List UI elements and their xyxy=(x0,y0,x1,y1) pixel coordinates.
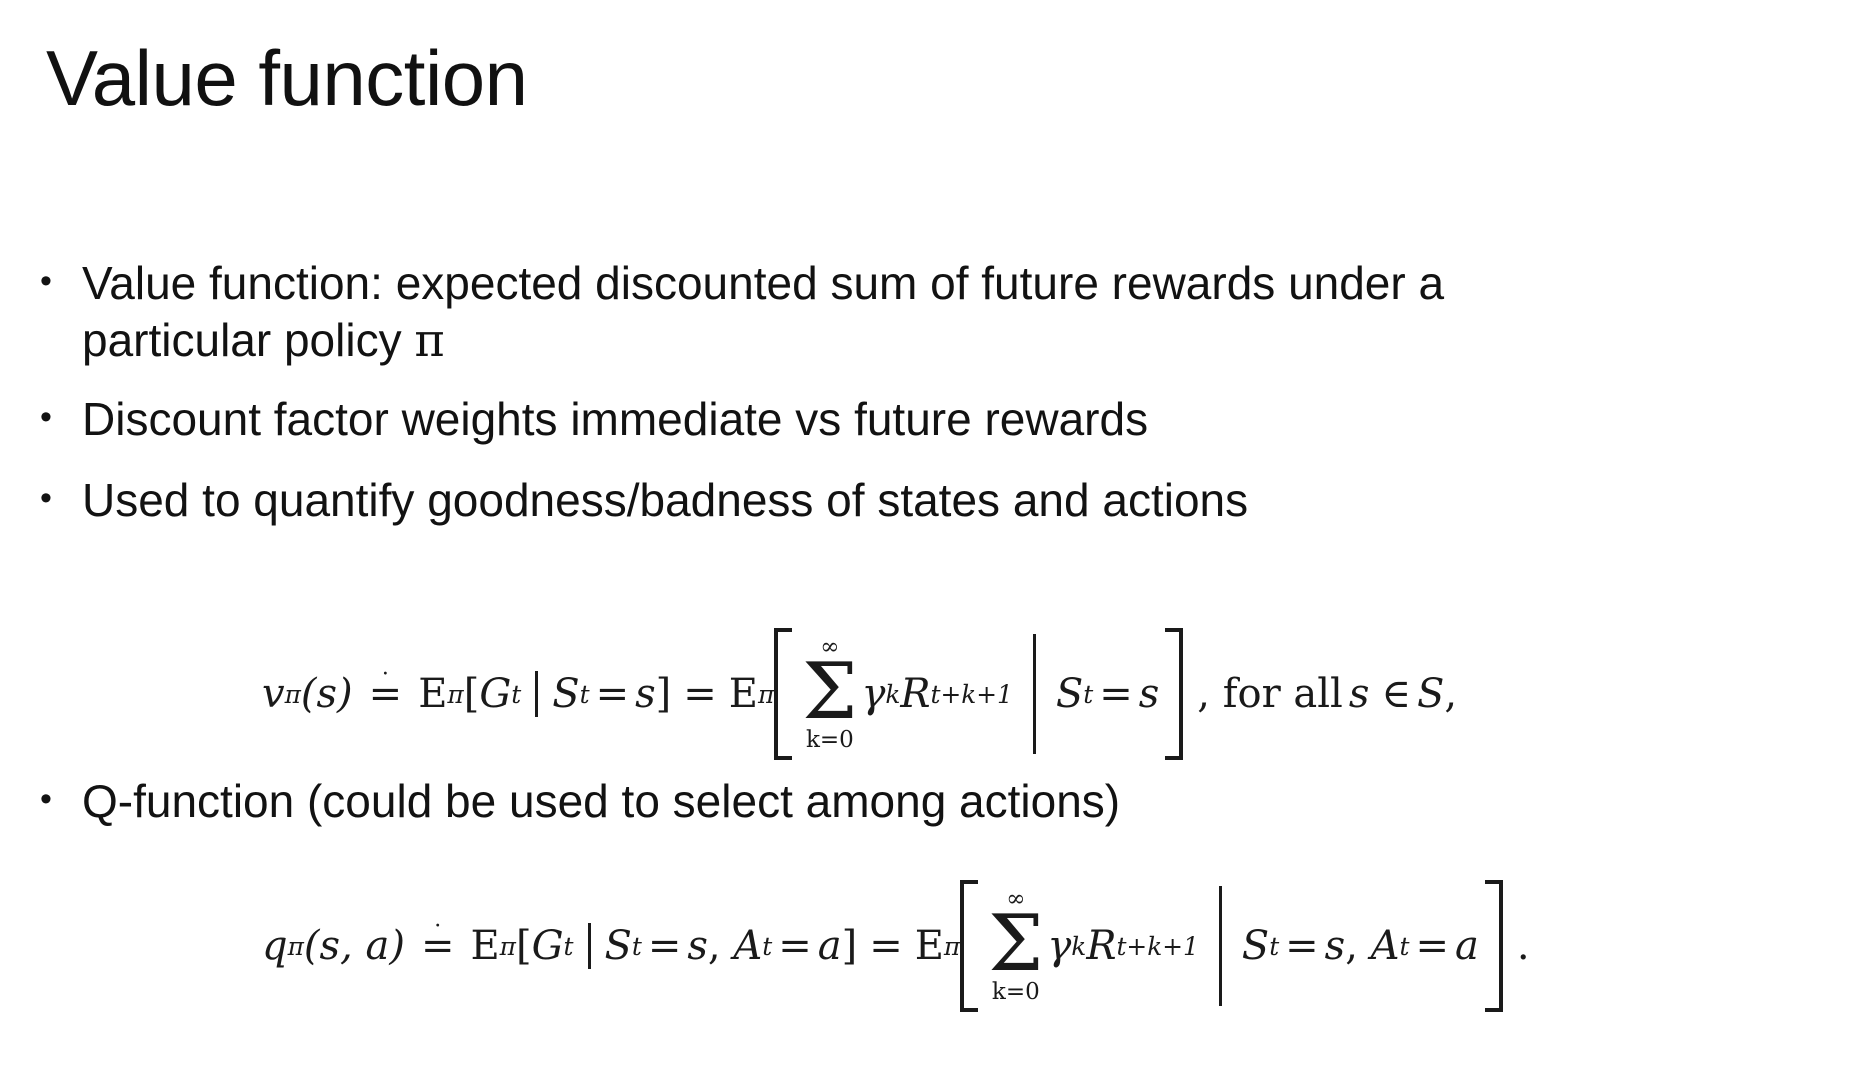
bullet-text-discount-factor: Discount factor weights immediate vs fut… xyxy=(82,391,1822,448)
eq2-summation: ∞ Σ k=0 xyxy=(988,888,1043,1004)
eq2-conditional-bar-large xyxy=(1219,886,1222,1006)
pi-symbol: π xyxy=(414,313,444,367)
eq2-comma-1: , xyxy=(708,923,733,969)
bullet-marker: • xyxy=(40,773,82,826)
eq1-element-of: ∈ xyxy=(1375,671,1417,717)
eq1-gamma: γ xyxy=(861,671,885,717)
eq1-bracket-content: ∞ Σ k=0 γkRt+k+1 St=s xyxy=(798,628,1159,760)
eq2-comma-2: , xyxy=(1345,923,1370,969)
eq2-conditional-bar xyxy=(588,923,591,969)
eq2-sum-lower-limit: k=0 xyxy=(992,981,1040,1004)
eq1-defined-as: ·= xyxy=(353,671,419,717)
eq2-state-S-2: S xyxy=(1242,923,1269,969)
eq2-expectation-2-sub-pi: π xyxy=(944,932,960,961)
eq2-big-open-bracket xyxy=(960,880,978,1012)
bullet-marker: • xyxy=(40,255,82,308)
eq2-state-sub-t: t xyxy=(632,932,642,961)
eq2-expectation-2: E xyxy=(915,923,944,969)
equation-action-value-function: qπ(s, a) ·= Eπ[Gt St=s, At=a] = Eπ ∞ Σ k… xyxy=(262,880,1530,1012)
eq2-action-A-2: A xyxy=(1371,923,1400,969)
eq2-reward-sub: t+k+1 xyxy=(1116,932,1198,961)
bullet-text-quantify-goodness: Used to quantify goodness/badness of sta… xyxy=(82,472,1822,529)
eq2-action-sub-t: t xyxy=(762,932,772,961)
page-title: Value function xyxy=(46,38,528,120)
eq1-tail-text: , for all xyxy=(1183,671,1343,717)
eq2-q-args: (s, a) xyxy=(304,923,405,969)
eq1-tail-var-s: s xyxy=(1343,671,1376,717)
eq1-reward-sub: t+k+1 xyxy=(931,680,1013,709)
eq1-big-open-bracket xyxy=(774,628,792,760)
eq2-action-value-a-2: a xyxy=(1455,923,1479,969)
eq2-equals-1: = xyxy=(642,923,688,969)
eq1-state-S-2: S xyxy=(1056,671,1083,717)
eq1-state-2-sub-t: t xyxy=(1083,680,1093,709)
eq2-big-bracket-group: ∞ Σ k=0 γkRt+k+1 St=s, At=a xyxy=(960,880,1503,1012)
eq1-expectation-2: E xyxy=(729,671,758,717)
eq1-state-S: S xyxy=(552,671,579,717)
sigma-icon: Σ xyxy=(802,657,857,729)
eq2-state-2-sub-t: t xyxy=(1269,932,1279,961)
doteq-dot: · xyxy=(434,916,441,938)
eq1-expectation: E xyxy=(418,671,447,717)
bullet-marker: • xyxy=(40,391,82,444)
doteq-dot: · xyxy=(382,664,389,686)
eq1-return-G: G xyxy=(479,671,511,717)
slide: Value function • Value function: expecte… xyxy=(0,0,1860,1080)
eq2-close-bracket: ] xyxy=(842,923,858,969)
eq2-return-sub-t: t xyxy=(564,932,574,961)
eq2-big-close-bracket xyxy=(1485,880,1503,1012)
eq1-open-bracket: [ xyxy=(464,671,480,717)
eq2-action-A: A xyxy=(733,923,762,969)
eq1-v-sub-pi: π xyxy=(285,680,301,709)
eq1-tail-comma: , xyxy=(1444,671,1457,717)
list-item: • Used to quantify goodness/badness of s… xyxy=(40,472,1830,529)
list-item: • Value function: expected discounted su… xyxy=(40,255,1830,369)
eq1-state-value-s: s xyxy=(635,671,656,717)
eq2-gamma: γ xyxy=(1047,923,1071,969)
eq2-q-sub-pi: π xyxy=(288,932,304,961)
eq2-defined-as: ·= xyxy=(405,923,471,969)
eq2-state-value-s-2: s xyxy=(1325,923,1346,969)
bullet-marker: • xyxy=(40,472,82,525)
eq2-state-value-s: s xyxy=(687,923,708,969)
sigma-icon: Σ xyxy=(988,909,1043,981)
eq1-state-sub-t: t xyxy=(580,680,590,709)
eq2-expectation: E xyxy=(470,923,499,969)
list-item: • Discount factor weights immediate vs f… xyxy=(40,391,1830,448)
eq1-equals-1: = xyxy=(590,671,636,717)
eq1-sum-lower-limit: k=0 xyxy=(806,729,854,752)
eq2-state-S: S xyxy=(605,923,632,969)
eq2-gamma-exponent-k: k xyxy=(1071,932,1086,961)
eq2-equals-1b: = xyxy=(772,923,818,969)
eq1-big-close-bracket xyxy=(1165,628,1183,760)
eq2-action-2-sub-t: t xyxy=(1400,932,1410,961)
eq1-v-args: (s) xyxy=(301,671,353,717)
eq2-open-bracket: [ xyxy=(516,923,532,969)
eq2-equals-3: = xyxy=(1279,923,1325,969)
eq2-expectation-sub-pi: π xyxy=(500,932,516,961)
eq2-equals-4: = xyxy=(1410,923,1456,969)
eq2-bracket-content: ∞ Σ k=0 γkRt+k+1 St=s, At=a xyxy=(984,880,1479,1012)
eq2-equals-2: = xyxy=(857,923,915,969)
eq2-action-value-a: a xyxy=(818,923,842,969)
eq1-gamma-exponent-k: k xyxy=(885,680,900,709)
eq1-conditional-bar-large xyxy=(1033,634,1036,754)
bullet-line-2: particular policy xyxy=(82,314,414,366)
eq1-close-bracket: ] xyxy=(656,671,672,717)
bullet-text-q-function: Q-function (could be used to select amon… xyxy=(82,773,1822,830)
eq1-v: v xyxy=(262,671,285,717)
eq1-state-value-s-2: s xyxy=(1139,671,1160,717)
eq2-return-G: G xyxy=(532,923,564,969)
equation-state-value-function: vπ(s) ·= Eπ[Gt St=s] = Eπ ∞ Σ k=0 γkRt+k… xyxy=(262,628,1457,760)
bullet-text-value-function: Value function: expected discounted sum … xyxy=(82,255,1822,369)
eq1-equals-2: = xyxy=(671,671,729,717)
eq1-expectation-sub-pi: π xyxy=(447,680,463,709)
eq1-reward-R: R xyxy=(900,671,930,717)
eq1-big-bracket-group: ∞ Σ k=0 γkRt+k+1 St=s xyxy=(774,628,1183,760)
eq1-return-sub-t: t xyxy=(511,680,521,709)
eq1-expectation-2-sub-pi: π xyxy=(758,680,774,709)
list-item: • Q-function (could be used to select am… xyxy=(40,773,1830,830)
eq2-reward-R: R xyxy=(1086,923,1116,969)
eq1-equals-3: = xyxy=(1093,671,1139,717)
eq1-state-set: S xyxy=(1417,671,1444,717)
eq2-period: . xyxy=(1503,923,1530,969)
eq1-summation: ∞ Σ k=0 xyxy=(802,636,857,752)
bullet-line-1: Value function: expected discounted sum … xyxy=(82,257,1444,309)
eq1-conditional-bar xyxy=(535,671,538,717)
eq2-q: q xyxy=(262,923,288,969)
